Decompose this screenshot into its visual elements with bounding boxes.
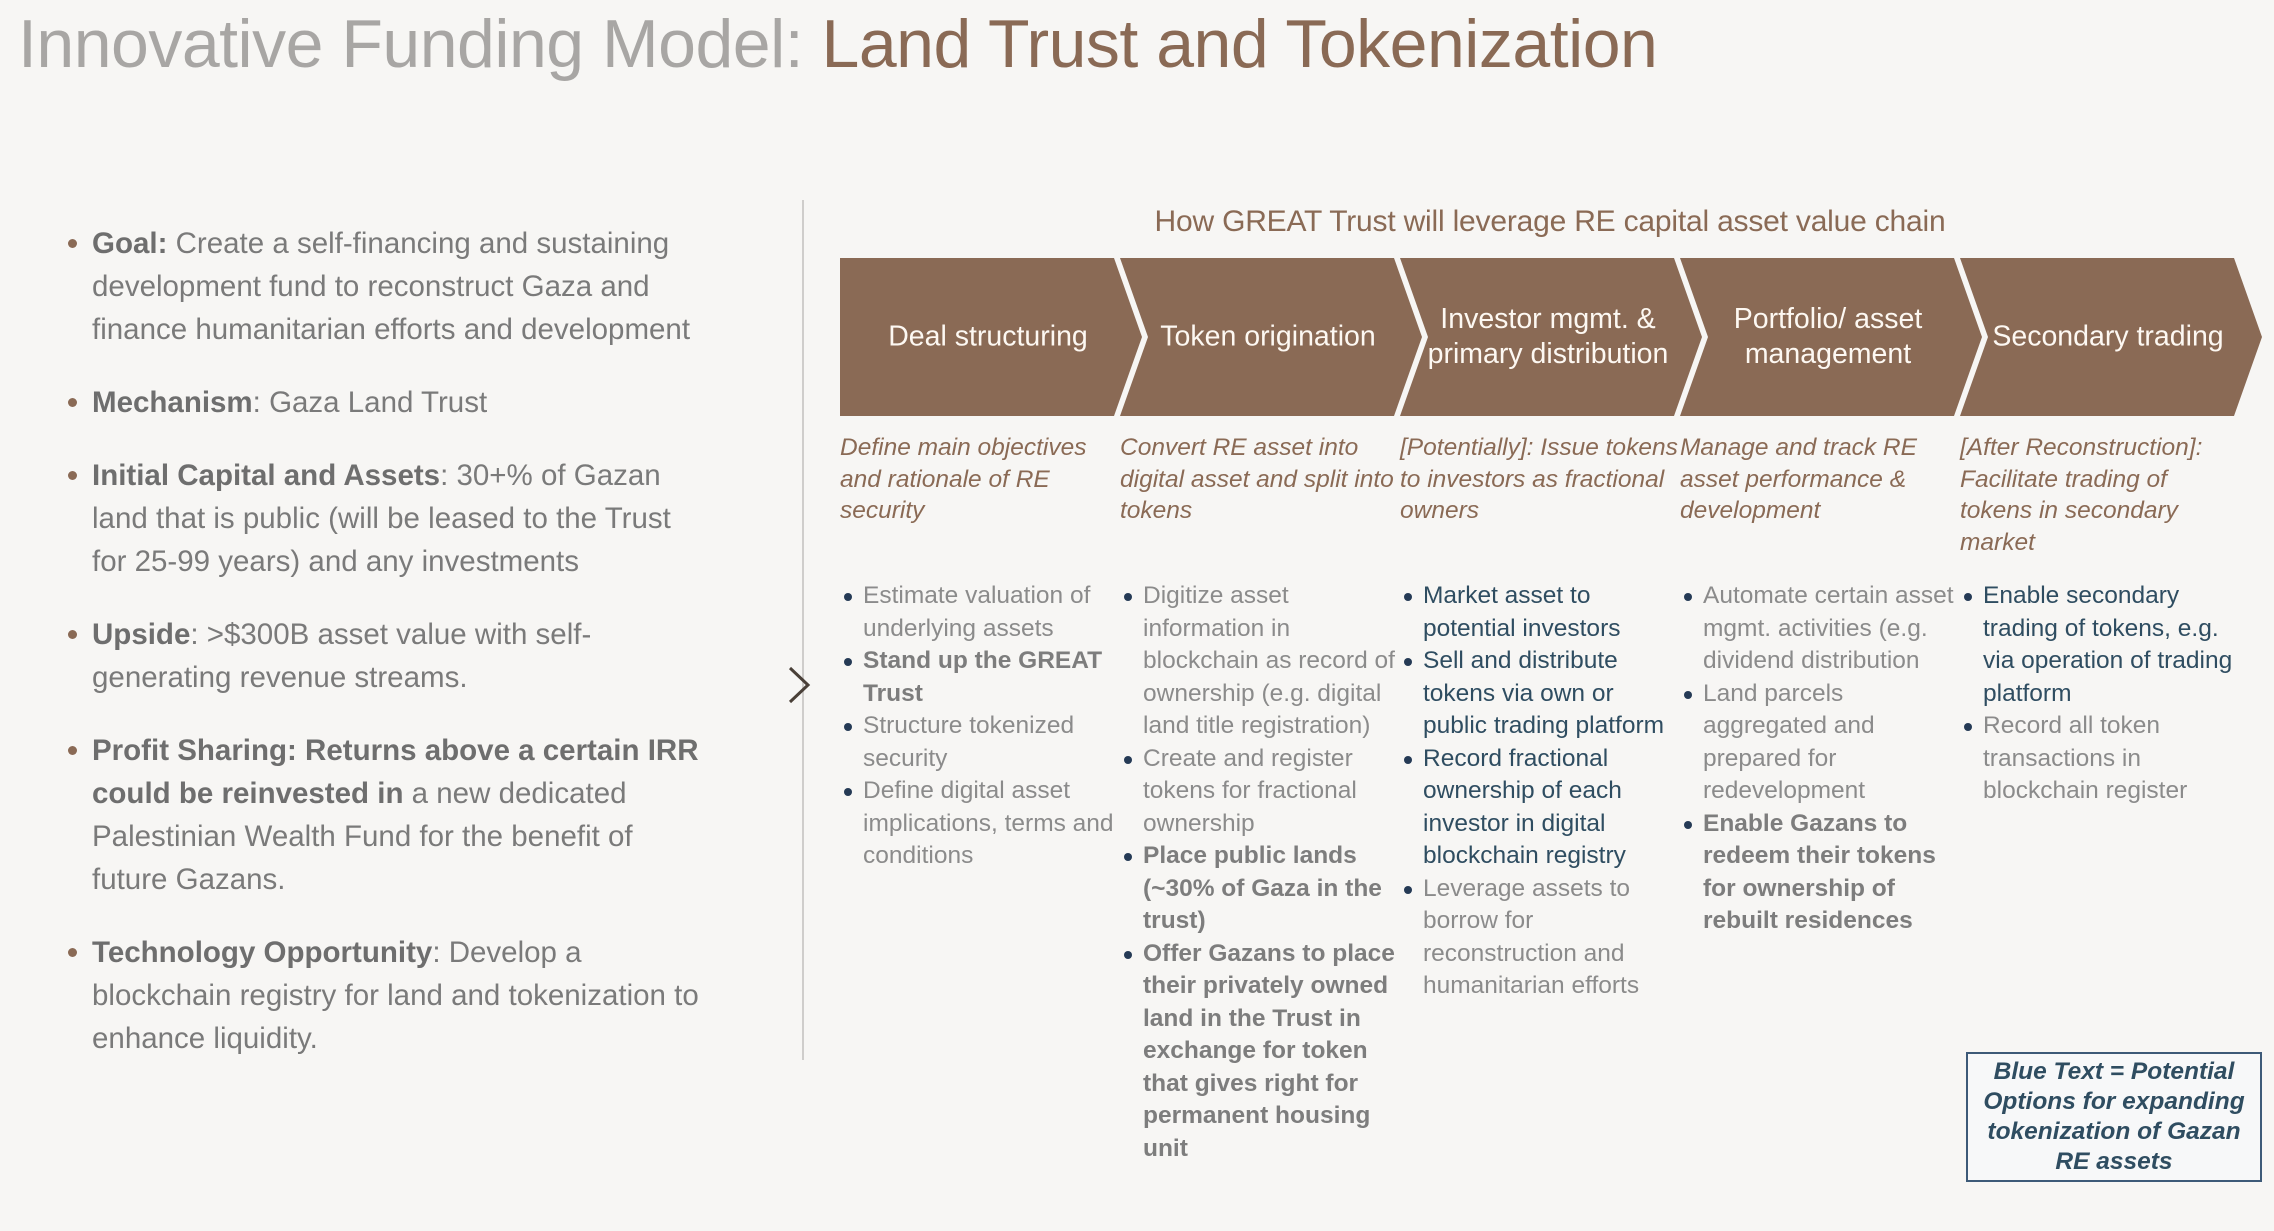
vertical-divider bbox=[802, 200, 804, 1060]
left-bullet-item: Initial Capital and Assets: 30+% of Gaza… bbox=[66, 454, 706, 583]
stage-bullet-item: Record fractional ownership of each inve… bbox=[1400, 743, 1678, 873]
left-bullet-item: Profit Sharing: Returns above a certain … bbox=[66, 729, 706, 901]
legend-box: Blue Text = Potential Options for expand… bbox=[1966, 1052, 2262, 1182]
stage-bullet-item: Automate certain asset mgmt. activities … bbox=[1680, 580, 1958, 678]
stage-bullet-item: Offer Gazans to place their privately ow… bbox=[1120, 938, 1398, 1166]
stage-bullet-column: Digitize asset information in blockchain… bbox=[1120, 580, 1398, 1165]
stage-bullet-column: Estimate valuation of underlying assetsS… bbox=[840, 580, 1118, 873]
stage-description: Convert RE asset into digital asset and … bbox=[1120, 432, 1398, 527]
stage-description: Manage and track RE asset performance & … bbox=[1680, 432, 1958, 527]
left-bullet-text: Initial Capital and Assets: 30+% of Gaza… bbox=[92, 454, 706, 583]
left-bullet-lead: Goal: bbox=[92, 227, 167, 260]
left-bullet-text: Profit Sharing: Returns above a certain … bbox=[92, 729, 706, 901]
left-bullet-lead: Upside bbox=[92, 618, 190, 651]
chevron-label[interactable]: Portfolio/ asset management bbox=[1698, 302, 1958, 372]
legend-text: Blue Text = Potential Options for expand… bbox=[1978, 1057, 2250, 1177]
stage-bullet-column: Automate certain asset mgmt. activities … bbox=[1680, 580, 1958, 938]
page-title-highlight: Land Trust and Tokenization bbox=[822, 6, 1658, 82]
stage-bullet-item: Enable Gazans to redeem their tokens for… bbox=[1680, 808, 1958, 938]
chevron-label[interactable]: Secondary trading bbox=[1978, 320, 2238, 355]
stage-description: [Potentially]: Issue tokens to investors… bbox=[1400, 432, 1678, 527]
left-bullet-body: Create a self-financing and sustaining d… bbox=[92, 227, 690, 346]
chevron-right-icon bbox=[782, 662, 816, 708]
left-bullet-lead: Mechanism bbox=[92, 386, 253, 419]
slide-root: Innovative Funding Model: Land Trust and… bbox=[0, 0, 2274, 1231]
stage-bullet-item: Leverage assets to borrow for reconstruc… bbox=[1400, 873, 1678, 1003]
stage-bullet-column: Enable secondary trading of tokens, e.g.… bbox=[1960, 580, 2238, 808]
left-bullet-item: Technology Opportunity: Develop a blockc… bbox=[66, 931, 706, 1060]
left-bullet-lead: Technology Opportunity bbox=[92, 936, 432, 969]
stage-bullet-item: Land parcels aggregated and prepared for… bbox=[1680, 678, 1958, 808]
stage-bullet-item: Structure tokenized security bbox=[840, 710, 1118, 775]
left-bullet-body: : Gaza Land Trust bbox=[253, 386, 488, 419]
chevron-label[interactable]: Token origination bbox=[1138, 320, 1398, 355]
chevron-label[interactable]: Investor mgmt. & primary distribution bbox=[1418, 302, 1678, 372]
stage-bullet-item: Place public lands (~30% of Gaza in the … bbox=[1120, 840, 1398, 938]
stage-bullet-item: Create and register tokens for fractiona… bbox=[1120, 743, 1398, 841]
stage-description: Define main objectives and rationale of … bbox=[840, 432, 1118, 527]
stage-bullet-item: Enable secondary trading of tokens, e.g.… bbox=[1960, 580, 2238, 710]
left-bullet-text: Technology Opportunity: Develop a blockc… bbox=[92, 931, 706, 1060]
left-bullet-lead: Initial Capital and Assets bbox=[92, 459, 440, 492]
page-title: Innovative Funding Model: Land Trust and… bbox=[18, 2, 1657, 86]
stage-bullet-item: Record all token transactions in blockch… bbox=[1960, 710, 2238, 808]
stage-bullet-item: Sell and distribute tokens via own or pu… bbox=[1400, 645, 1678, 743]
stage-bullet-column: Market asset to potential investorsSell … bbox=[1400, 580, 1678, 1003]
chevron-label[interactable]: Deal structuring bbox=[858, 320, 1118, 355]
left-bullet-item: Mechanism: Gaza Land Trust bbox=[66, 381, 706, 424]
left-bullet-text: Goal: Create a self-financing and sustai… bbox=[92, 222, 706, 351]
left-bullet-item: Upside: >$300B asset value with self-gen… bbox=[66, 613, 706, 699]
left-bullet-list: Goal: Create a self-financing and sustai… bbox=[66, 222, 706, 1060]
page-title-prefix: Innovative Funding Model: bbox=[18, 6, 822, 82]
stage-bullet-item: Stand up the GREAT Trust bbox=[840, 645, 1118, 710]
stage-bullet-item: Estimate valuation of underlying assets bbox=[840, 580, 1118, 645]
left-bullet-item: Goal: Create a self-financing and sustai… bbox=[66, 222, 706, 351]
panel-heading: How GREAT Trust will leverage RE capital… bbox=[840, 205, 2260, 239]
stage-bullet-item: Market asset to potential investors bbox=[1400, 580, 1678, 645]
left-bullet-text: Mechanism: Gaza Land Trust bbox=[92, 381, 706, 424]
left-bullet-text: Upside: >$300B asset value with self-gen… bbox=[92, 613, 706, 699]
stage-description: [After Reconstruction]: Facilitate tradi… bbox=[1960, 432, 2238, 558]
stage-bullet-item: Digitize asset information in blockchain… bbox=[1120, 580, 1398, 743]
value-chain-chevrons: Deal structuringToken originationInvesto… bbox=[840, 258, 2264, 416]
stage-bullet-item: Define digital asset implications, terms… bbox=[840, 775, 1118, 873]
